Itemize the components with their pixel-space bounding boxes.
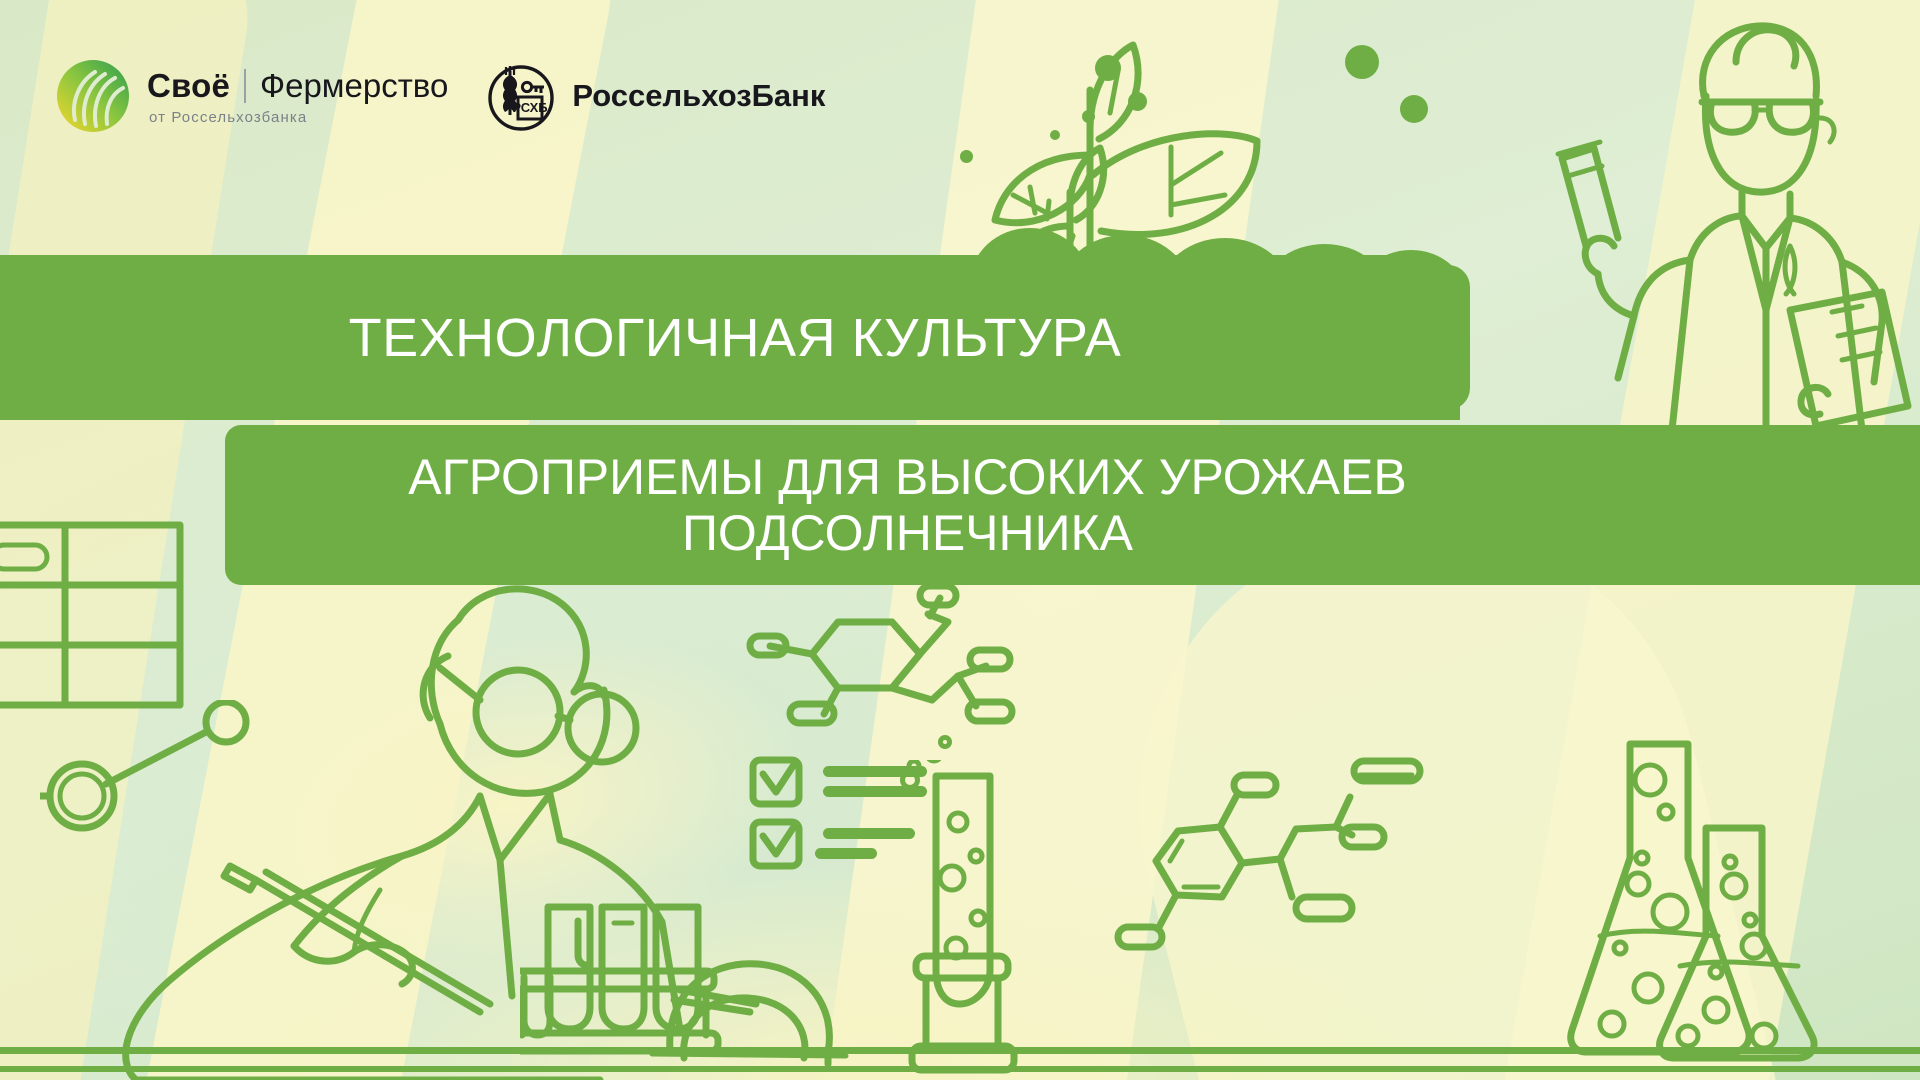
svoe-leaf-logo-icon [55,58,131,134]
subtitle-line-2: ПОДСОЛНЕЧНИКА [682,505,1133,561]
svoe-title: Своё [147,67,230,105]
bubbles-icon [1345,45,1379,79]
erlenmeyer-flasks-icon [1560,730,1870,1080]
svoe-fermerstvo-logo[interactable]: Своё Фермерство от Россельхозбанка [55,58,448,134]
rshb-wheat-key-emblem-icon: РСХБ [484,59,558,133]
bubbles-icon [1082,110,1095,123]
bubbles-icon [1128,92,1147,111]
rshb-name: РоссельхозБанк [572,78,825,114]
table-surface-line [0,1047,1920,1054]
microscope-icon [640,930,930,1080]
bubbles-icon [1095,55,1121,81]
bicyclic-molecule-icon [742,580,1052,760]
bubbles-icon [900,770,920,790]
scientist-with-test-tube-icon [1490,10,1920,430]
page-title: ТЕХНОЛОГИЧНАЯ КУЛЬТУРА [349,307,1122,369]
subtitle-line-1: АГРОПРИЕМЫ ДЛЯ ВЫСОКИХ УРОЖАЕВ [408,449,1406,505]
bubbles-icon [1050,130,1060,140]
bubbles-icon [960,150,973,163]
poster-canvas: Своё Фермерство от Россельхозбанка [0,0,1920,1080]
svoe-caption: от Россельхозбанка [149,109,448,126]
logo-bar: Своё Фермерство от Россельхозбанка [55,58,825,134]
rshb-logo[interactable]: РСХБ РоссельхозБанк [484,59,825,133]
bubbles-icon [1400,95,1428,123]
bubbles-icon [938,735,952,749]
title-banner-primary: ТЕХНОЛОГИЧНАЯ КУЛЬТУРА [0,265,1470,410]
logo-divider [244,69,246,103]
benzene-chain-molecule-icon [1100,745,1430,975]
table-surface-line-secondary [0,1066,1920,1072]
svoe-subtitle: Фермерство [260,67,448,105]
svg-text:РСХБ: РСХБ [513,100,548,115]
